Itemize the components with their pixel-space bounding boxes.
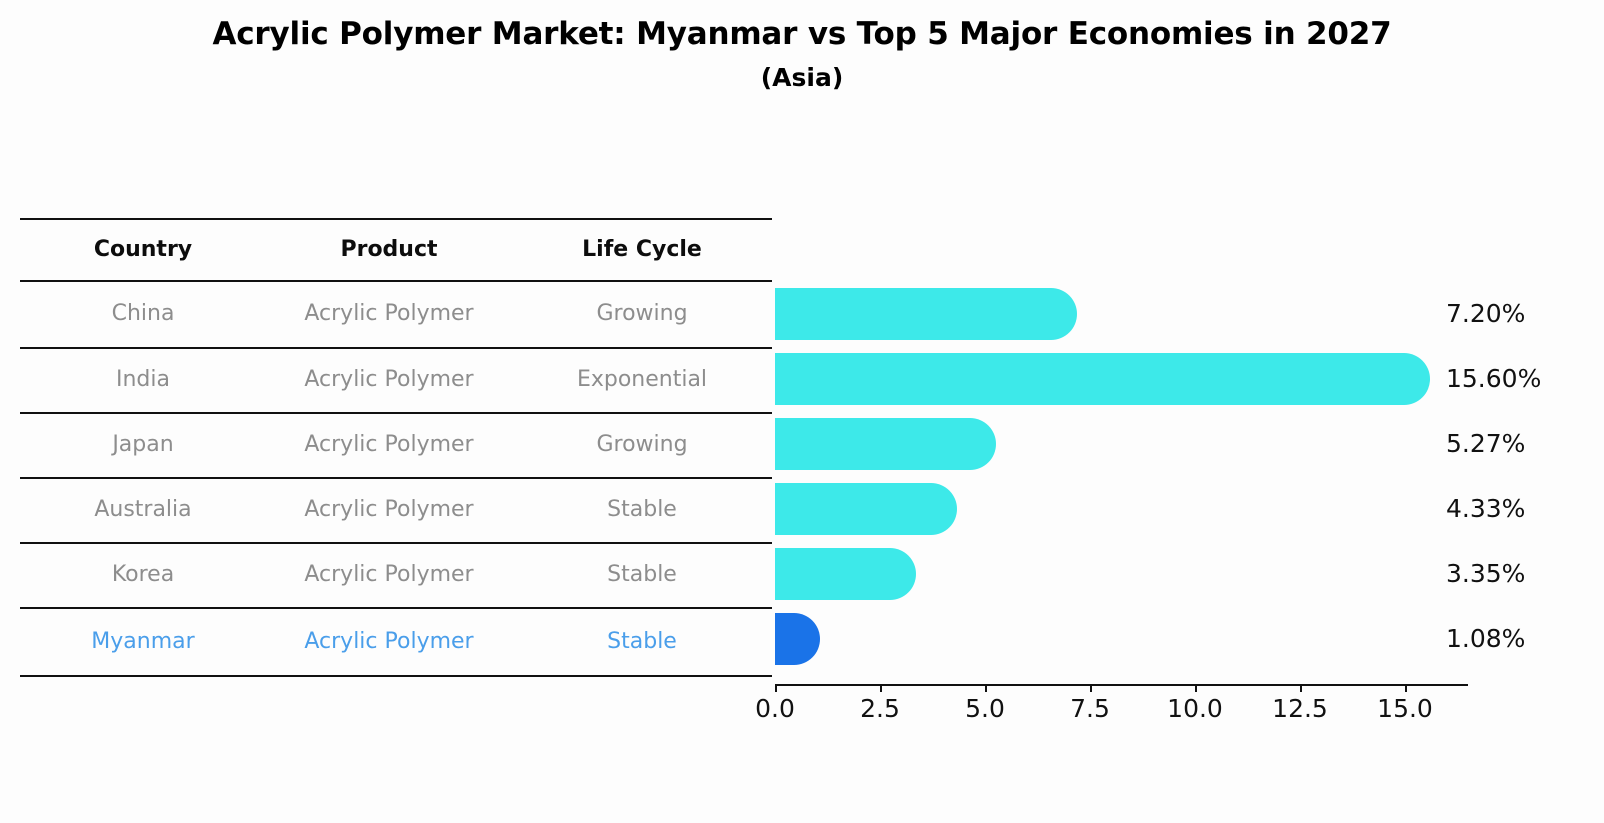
x-axis-tick-label: 15.0 <box>1377 694 1433 723</box>
bar-chart-plot: 7.20%15.60%5.27%4.33%3.35%1.08%0.02.55.0… <box>0 0 1604 823</box>
x-axis-tick-label: 7.5 <box>1070 694 1110 723</box>
x-axis-tick-label: 0.0 <box>755 694 795 723</box>
x-axis-tick <box>775 684 777 692</box>
bar-value-label: 7.20% <box>1446 299 1525 328</box>
x-axis-tick-label: 10.0 <box>1167 694 1223 723</box>
x-axis-tick-label: 5.0 <box>965 694 1005 723</box>
bar-value-label: 15.60% <box>1446 364 1541 393</box>
bar-value-label: 3.35% <box>1446 559 1525 588</box>
bar-japan[interactable] <box>775 418 996 470</box>
bar-china[interactable] <box>775 288 1077 340</box>
bar-korea[interactable] <box>775 548 916 600</box>
x-axis-line <box>775 684 1468 686</box>
bar-value-label: 5.27% <box>1446 429 1525 458</box>
x-axis-tick-label: 2.5 <box>860 694 900 723</box>
x-axis-tick <box>1195 684 1197 692</box>
bar-value-label: 4.33% <box>1446 494 1525 523</box>
bar-australia[interactable] <box>775 483 957 535</box>
bar-value-label: 1.08% <box>1446 624 1525 653</box>
x-axis-tick-label: 12.5 <box>1272 694 1328 723</box>
x-axis-tick <box>1090 684 1092 692</box>
x-axis-tick <box>985 684 987 692</box>
bar-india[interactable] <box>775 353 1430 405</box>
x-axis-tick <box>1405 684 1407 692</box>
x-axis-tick <box>1300 684 1302 692</box>
bar-myanmar[interactable] <box>775 613 820 665</box>
x-axis-tick <box>880 684 882 692</box>
